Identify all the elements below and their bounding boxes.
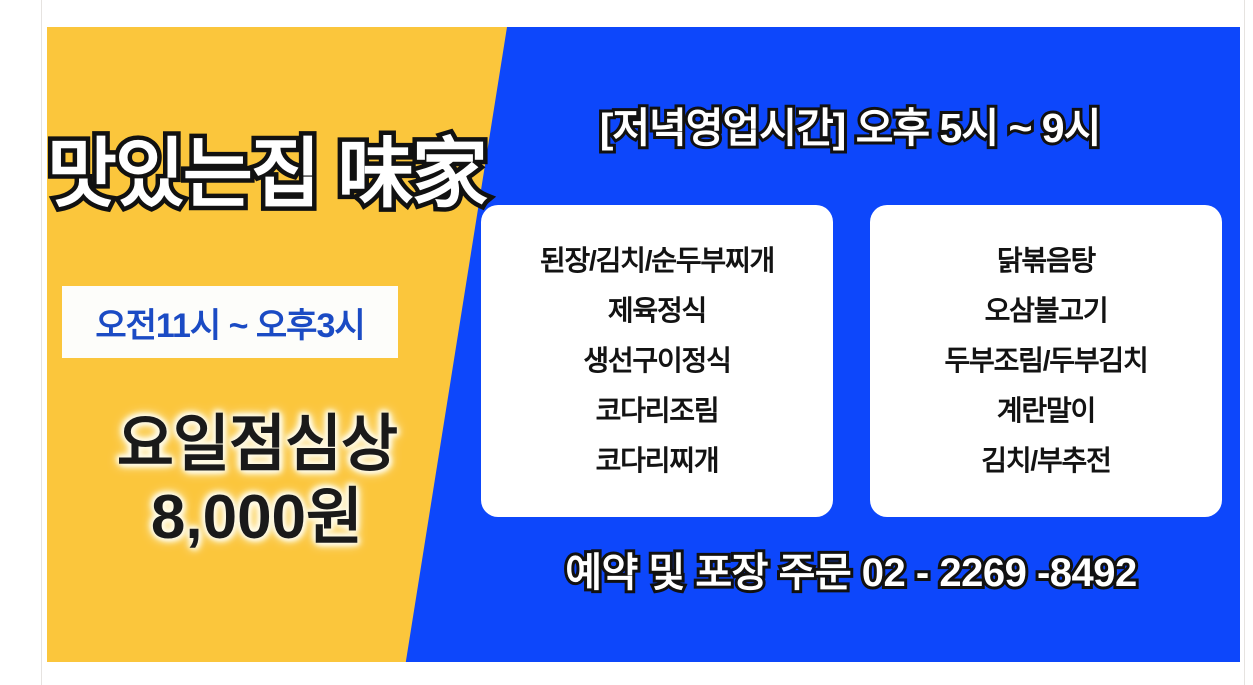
- lunch-special-price: 8,000원: [47, 485, 467, 550]
- lunch-special-title: 요일점심상: [47, 412, 467, 477]
- page-guide-line-left: [41, 0, 42, 685]
- menu-cards-row: 된장/김치/순두부찌개 제육정식 생선구이정식 코다리조림 코다리찌개 닭볶음탕…: [481, 205, 1222, 517]
- lunch-hours-badge: 오전11시 ~ 오후3시: [62, 286, 398, 358]
- reservation-phone-line: 예약 및 포장 주문 02 - 2269 -8492: [490, 553, 1212, 593]
- menu-item: 코다리찌개: [596, 447, 719, 475]
- restaurant-menu-poster: 맛있는집 味家 오전11시 ~ 오후3시 요일점심상 8,000원 [저녁영업시…: [0, 0, 1253, 685]
- menu-item: 계란말이: [997, 397, 1095, 425]
- page-guide-line-right: [1244, 0, 1245, 685]
- menu-item: 제육정식: [608, 297, 706, 325]
- menu-item: 두부조림/두부김치: [944, 347, 1147, 375]
- menu-item: 닭볶음탕: [997, 247, 1095, 275]
- lunch-hours-text: 오전11시 ~ 오후3시: [95, 298, 364, 347]
- shop-title: 맛있는집 味家: [47, 137, 467, 213]
- menu-item: 생선구이정식: [583, 347, 730, 375]
- dinner-hours-header: [저녁영업시간] 오후 5시 ~ 9시: [500, 108, 1200, 149]
- menu-item: 오삼불고기: [985, 297, 1108, 325]
- menu-card-right: 닭볶음탕 오삼불고기 두부조림/두부김치 계란말이 김치/부추전: [870, 205, 1222, 517]
- lunch-special-block: 요일점심상 8,000원: [47, 412, 467, 550]
- menu-item: 된장/김치/순두부찌개: [540, 247, 774, 275]
- left-section: 맛있는집 味家 오전11시 ~ 오후3시 요일점심상 8,000원: [47, 27, 467, 662]
- menu-item: 코다리조림: [596, 397, 719, 425]
- menu-item: 김치/부추전: [981, 447, 1110, 475]
- menu-card-left: 된장/김치/순두부찌개 제육정식 생선구이정식 코다리조림 코다리찌개: [481, 205, 833, 517]
